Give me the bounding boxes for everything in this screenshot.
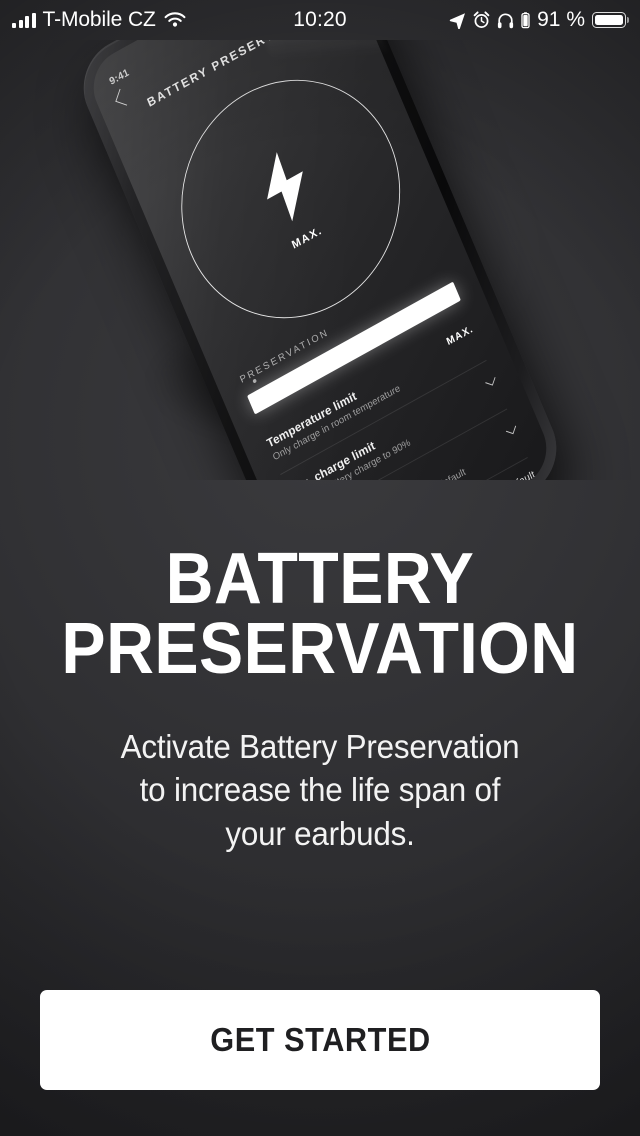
info-icon[interactable]: i (328, 40, 351, 42)
charge-dial-label: MAX. (290, 223, 324, 251)
chevron-down-icon[interactable] (485, 375, 495, 386)
battery-icon (592, 12, 626, 28)
page-title-line1: BATTERY (166, 539, 475, 619)
lightning-bolt-icon (248, 141, 323, 231)
chevron-down-icon[interactable] (506, 423, 516, 434)
settings-row-control: MAX. (437, 323, 475, 352)
page-title: BATTERY PRESERVATION (26, 545, 615, 685)
onboarding-copy: BATTERY PRESERVATION Activate Battery Pr… (0, 545, 640, 855)
get-started-button[interactable]: GET STARTED (40, 990, 600, 1090)
status-bar-right: 91 % (449, 8, 626, 32)
back-chevron-icon[interactable] (115, 89, 131, 106)
hero-phone-mockup: 9:41 BATTERY PRESERVATION (0, 40, 640, 480)
device-clock: 9:41 (108, 67, 131, 88)
settings-row-control (497, 420, 517, 439)
battery-percent-label: 91 % (537, 8, 585, 32)
settings-list: Temperature limit Only charge in room te… (260, 312, 542, 480)
alarm-clock-icon (473, 11, 490, 29)
page-title-line2: PRESERVATION (26, 615, 615, 685)
ios-status-bar: T-Mobile CZ 10:20 (0, 0, 640, 40)
settings-row-control (476, 372, 496, 391)
headphone-battery-icon (521, 12, 530, 29)
get-started-label: GET STARTED (210, 1021, 430, 1059)
page-description: Activate Battery Preservation to increas… (16, 725, 624, 856)
charge-dial[interactable]: MAX. (146, 40, 435, 360)
headphones-icon (497, 12, 514, 29)
charging-speed-value: Default (503, 469, 537, 480)
slider-tick (252, 378, 257, 383)
settings-row-value: MAX. (445, 323, 475, 347)
location-arrow-icon (449, 12, 466, 29)
onboarding-screen: T-Mobile CZ 10:20 (0, 0, 640, 1136)
